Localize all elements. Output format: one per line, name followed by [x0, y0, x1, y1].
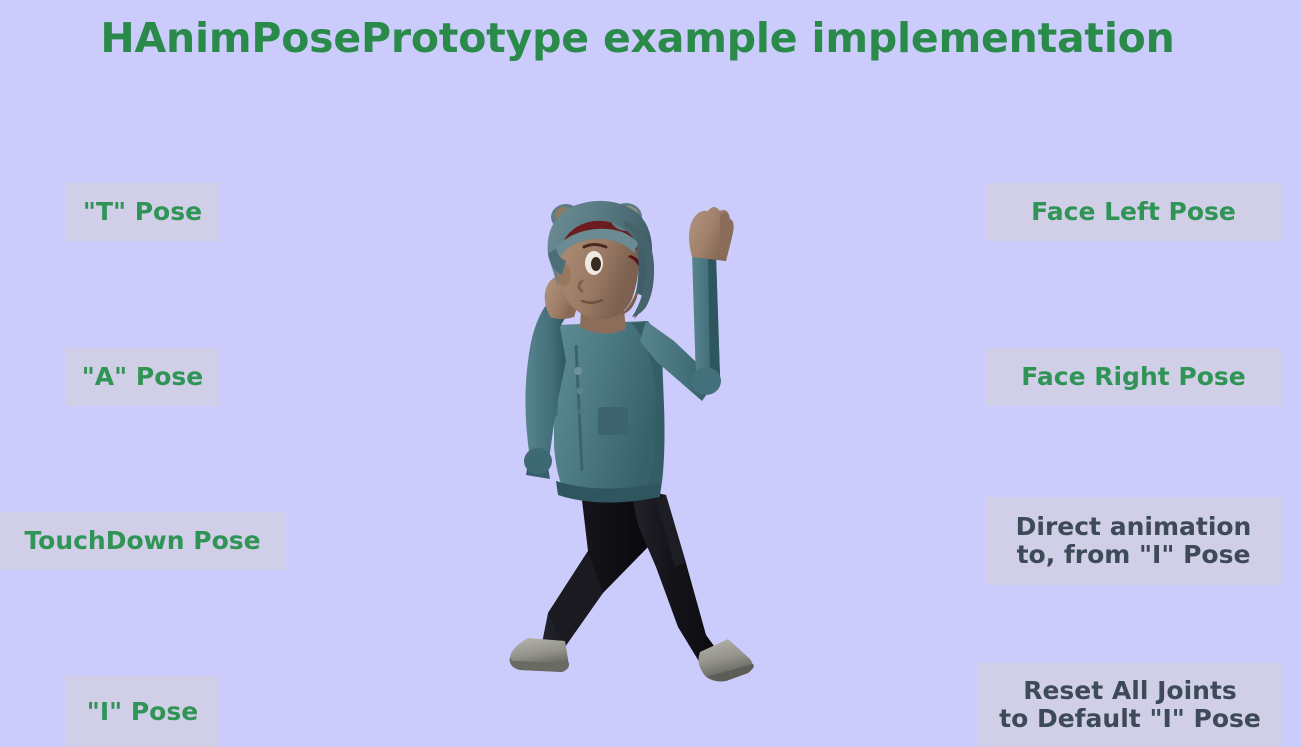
app-canvas: HAnimPosePrototype example implementatio…	[0, 0, 1301, 747]
t-pose-button[interactable]: "T" Pose	[66, 183, 219, 241]
touchdown-pose-label: TouchDown Pose	[0, 527, 285, 555]
i-pose-label: "I" Pose	[66, 698, 219, 726]
face-left-pose-button[interactable]: Face Left Pose	[985, 183, 1282, 241]
i-pose-button[interactable]: "I" Pose	[66, 676, 219, 747]
reset-all-joints-button[interactable]: Reset All Joints to Default "I" Pose	[978, 663, 1282, 747]
a-pose-label: "A" Pose	[66, 363, 219, 391]
t-pose-label: "T" Pose	[66, 198, 219, 226]
page-title: HAnimPosePrototype example implementatio…	[0, 14, 1275, 62]
face-right-pose-label: Face Right Pose	[985, 363, 1282, 391]
reset-all-joints-label: Reset All Joints to Default "I" Pose	[978, 677, 1282, 733]
humanoid-avatar	[470, 195, 790, 695]
face-right-pose-button[interactable]: Face Right Pose	[985, 348, 1282, 406]
direct-animation-button[interactable]: Direct animation to, from "I" Pose	[985, 497, 1282, 585]
face-left-pose-label: Face Left Pose	[985, 198, 1282, 226]
direct-animation-label: Direct animation to, from "I" Pose	[985, 513, 1282, 569]
a-pose-button[interactable]: "A" Pose	[66, 348, 219, 406]
touchdown-pose-button[interactable]: TouchDown Pose	[0, 512, 285, 570]
